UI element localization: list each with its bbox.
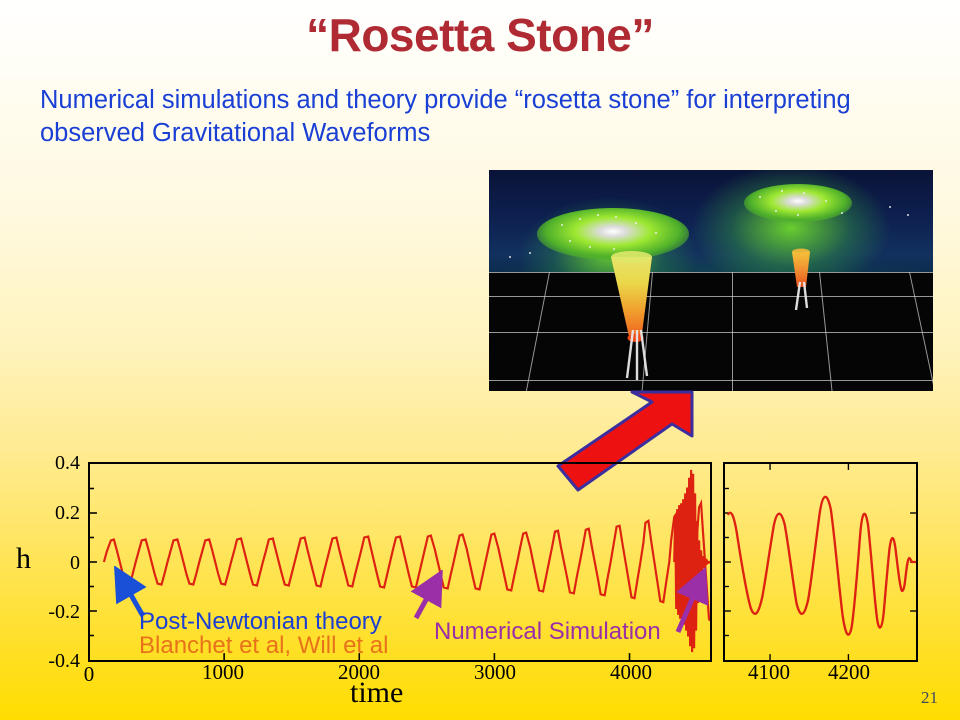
merger-zoom-chart [723,462,918,662]
particle-speck [579,218,581,220]
x-tick-label: 4200 [804,660,894,685]
x-tick-label: 4100 [724,660,814,685]
merger-zoom-plot-area [725,464,916,660]
numerical-simulation-arrow-right-icon [672,566,712,636]
particle-speck [781,190,783,192]
references-label: Blanchet et al, Will et al [139,632,388,660]
y-axis-title: h [16,542,31,576]
particle-speck [889,206,891,208]
particle-speck [529,252,531,254]
x-tick-label: 1000 [178,660,268,685]
waveform-path [104,503,710,621]
particle-speck [803,192,805,194]
particle-speck [655,232,657,234]
binary-black-hole-simulation-image [489,170,933,391]
particle-speck [613,248,615,250]
particle-speck [797,214,799,216]
x-tick-label: 0 [44,662,134,687]
page-title: “Rosetta Stone” [0,8,960,62]
page-number: 21 [921,688,938,708]
numerical-simulation-arrow-left-icon [410,570,446,620]
x-axis-title: time [350,676,403,710]
merger-zoom-path [728,497,916,635]
slide-subtitle: Numerical simulations and theory provide… [40,84,920,149]
particle-speck [907,214,909,216]
y-tick-label: -0.2 [24,601,80,624]
y-tick-label: 0 [24,552,80,575]
particle-speck [775,210,777,212]
slide-canvas: “Rosetta Stone” Numerical simulations an… [0,0,960,720]
particle-speck [569,240,571,242]
x-tick-label: 3000 [450,660,540,685]
y-tick-label: 0.2 [24,502,80,525]
particle-speck [759,196,761,198]
particle-speck [635,222,637,224]
particle-speck [509,256,511,258]
y-tick-label: 0.4 [24,452,80,475]
particle-speck [561,224,563,226]
particle-speck [597,214,599,216]
particle-speck [825,200,827,202]
particle-speck [615,216,617,218]
numerical-simulation-label: Numerical Simulation [434,618,661,646]
x-tick-label: 4000 [586,660,676,685]
particle-speck [589,246,591,248]
curvature-funnels [489,170,933,391]
particle-speck [841,212,843,214]
